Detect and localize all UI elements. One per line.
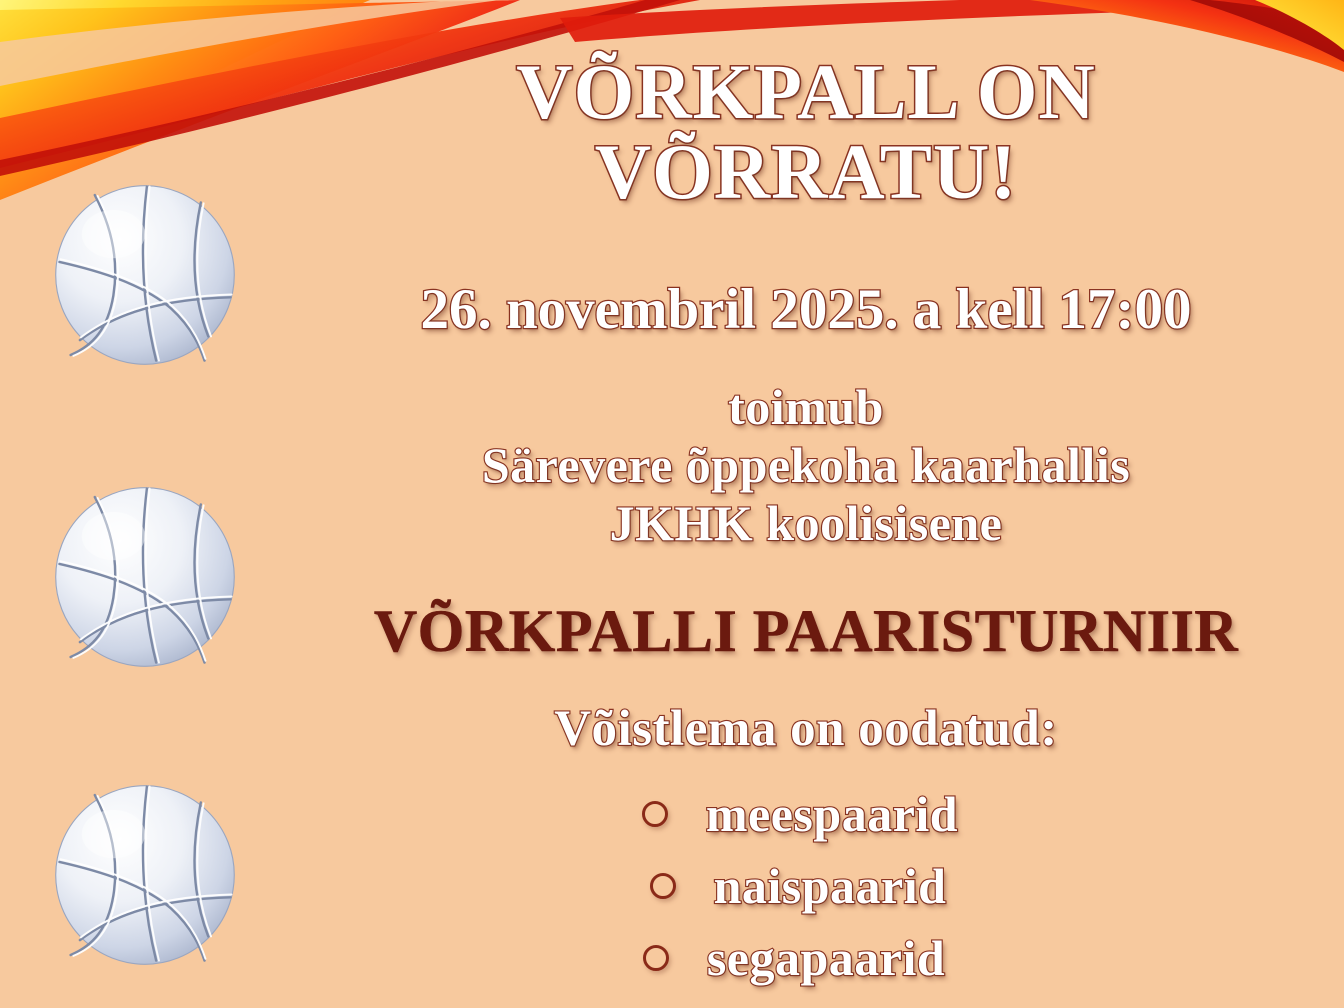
- list-item: segapaarid: [268, 922, 1344, 994]
- list-item: meespaarid: [268, 778, 1344, 850]
- category-label: segapaarid: [707, 929, 945, 987]
- circle-bullet-icon: [642, 801, 668, 827]
- venue-line-1: toimub: [268, 378, 1344, 436]
- volleyball-icon: [52, 782, 238, 968]
- venue-block: toimub Särevere õppekoha kaarhallis JKHK…: [268, 378, 1344, 552]
- title-line-2: VÕRRATU!: [268, 132, 1344, 212]
- event-datetime: 26. novembril 2025. a kell 17:00: [268, 277, 1344, 342]
- poster-title: VÕRKPALL ON VÕRRATU!: [268, 52, 1344, 213]
- category-label: meespaarid: [706, 785, 958, 843]
- circle-bullet-icon: [650, 873, 676, 899]
- venue-line-2: Särevere õppekoha kaarhallis: [268, 436, 1344, 494]
- title-line-1: VÕRKPALL ON: [268, 52, 1344, 132]
- volleyball-icon: [52, 182, 238, 368]
- poster-content: VÕRKPALL ON VÕRRATU! 26. novembril 2025.…: [268, 0, 1344, 1008]
- volleyball-icon: [52, 484, 238, 670]
- circle-bullet-icon: [643, 945, 669, 971]
- invitation-label: Võistlema on oodatud:: [268, 700, 1344, 758]
- tournament-heading: VÕRKPALLI PAARISTURNIIR: [268, 597, 1344, 666]
- list-item: naispaarid: [268, 850, 1344, 922]
- venue-line-3: JKHK koolisisene: [268, 494, 1344, 552]
- poster-canvas: VÕRKPALL ON VÕRRATU! 26. novembril 2025.…: [0, 0, 1344, 1008]
- category-label: naispaarid: [714, 857, 947, 915]
- category-list: meespaarid naispaarid segapaarid: [268, 778, 1344, 994]
